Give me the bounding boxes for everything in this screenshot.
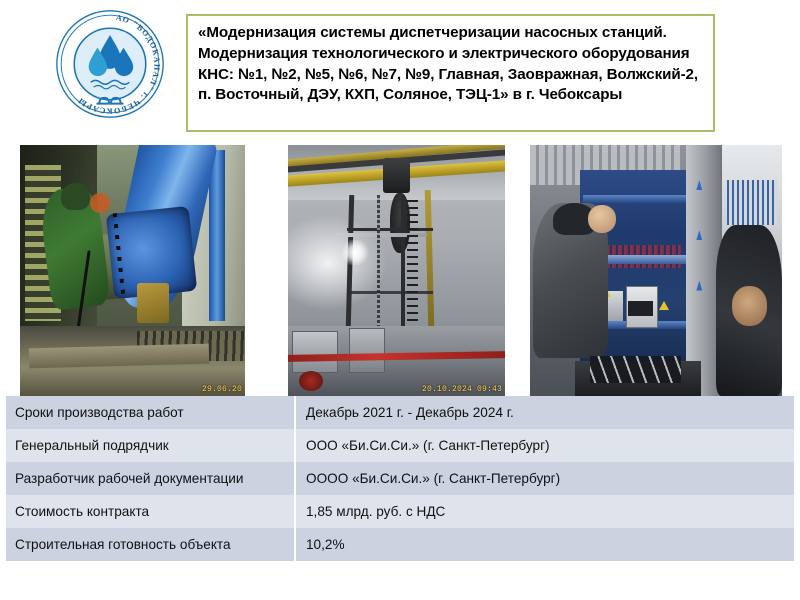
photo-2-canvas <box>288 145 505 396</box>
photo-1-worker-helmet <box>61 183 90 211</box>
table-cell-value: ООО «Би.Си.Си.» (г. Санкт-Петербург) <box>295 429 794 462</box>
photo-crane-gantry-hall: 20.10.2024 09:43 <box>288 145 505 396</box>
photo-1-brass-block <box>137 283 169 323</box>
photo-1-canvas <box>20 145 245 396</box>
photo-1-timestamp: 29.06.20 <box>202 385 242 394</box>
photo-2-red-valve-wheel <box>299 371 323 391</box>
table-row: Стоимость контракта 1,85 млрд. руб. с НД… <box>6 495 794 528</box>
photo-3-converter-display <box>628 301 653 316</box>
vodokanal-logo: АО "ВОДОКАНАЛ" г. ЧЕБОКСАРЫ <box>52 6 168 122</box>
project-info-table-body: Сроки производства работ Декабрь 2021 г.… <box>6 396 794 561</box>
table-cell-value: 1,85 млрд. руб. с НДС <box>295 495 794 528</box>
photo-3-worker-left-head <box>588 205 616 233</box>
photo-3-worker-right-head <box>732 286 767 326</box>
photo-3-right-panel-wiring <box>727 180 777 225</box>
photo-2-cabinet-2 <box>349 328 386 373</box>
photo-pipe-valve-assembly: 29.06.20 <box>20 145 245 396</box>
photo-2-timestamp: 20.10.2024 09:43 <box>422 385 502 394</box>
photo-3-cable-bundle <box>590 356 681 384</box>
table-row: Сроки производства работ Декабрь 2021 г.… <box>6 396 794 429</box>
photo-2-cabinet-1 <box>292 331 337 373</box>
page-title: «Модернизация системы диспетчеризации на… <box>198 23 705 106</box>
table-cell-label: Сроки производства работ <box>6 396 295 429</box>
photo-3-warning-triangle-2 <box>659 301 669 310</box>
logo-svg: АО "ВОДОКАНАЛ" г. ЧЕБОКСАРЫ <box>52 6 168 122</box>
table-row: Разработчик рабочей документации ОООО «Б… <box>6 462 794 495</box>
table-cell-label: Разработчик рабочей документации <box>6 462 295 495</box>
table-cell-label: Строительная готовность объекта <box>6 528 295 561</box>
table-cell-label: Стоимость контракта <box>6 495 295 528</box>
photo-3-canvas <box>530 145 782 396</box>
table-row: Генеральный подрядчик ООО «Би.Си.Си.» (г… <box>6 429 794 462</box>
table-cell-value: ОООО «Би.Си.Си.» (г. Санкт-Петербург) <box>295 462 794 495</box>
photo-2-hoist <box>383 158 409 193</box>
photo-2-crossbar-lower <box>347 291 434 294</box>
slide-title-box: «Модернизация системы диспетчеризации на… <box>186 14 715 132</box>
table-row: Строительная готовность объекта 10,2% <box>6 528 794 561</box>
photo-1-vertical-pipe <box>209 150 225 321</box>
photo-2-crossbar-upper <box>347 228 434 232</box>
photo-electrical-cabinet <box>530 145 782 396</box>
photo-2-lamp-glare <box>340 240 370 265</box>
table-cell-value: 10,2% <box>295 528 794 561</box>
photo-3-din-rail-1 <box>583 195 689 203</box>
table-cell-value: Декабрь 2021 г. - Декабрь 2024 г. <box>295 396 794 429</box>
project-info-table: Сроки производства работ Декабрь 2021 г.… <box>6 396 794 561</box>
table-cell-label: Генеральный подрядчик <box>6 429 295 462</box>
photo-1-orange-object <box>90 193 110 213</box>
